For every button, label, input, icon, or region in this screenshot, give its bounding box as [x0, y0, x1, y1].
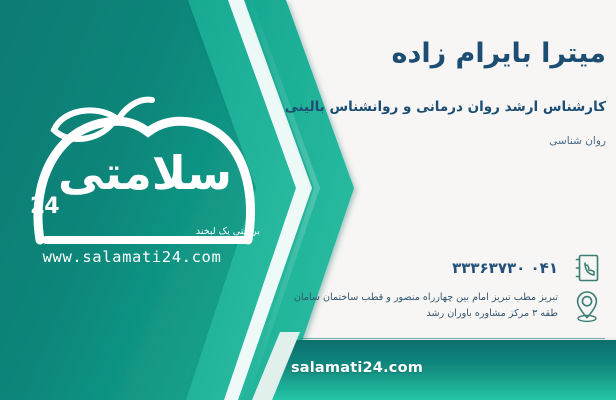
contact-row-address: تبریز مطب تبریز امام بین چهارراه منصور و… [244, 286, 604, 326]
phonebook-icon [570, 248, 604, 288]
logo-brand-number: 24 [30, 194, 59, 219]
section-divider [300, 338, 605, 339]
phone-number: ۳۳۳۶۳۷۳۰ ۰۴۱ [244, 259, 558, 277]
contact-phone-text: ۳۳۳۶۳۷۳۰ ۰۴۱ [244, 259, 558, 277]
footer-banner: salamati24.com [0, 360, 616, 376]
footer-website: salamati24.com [291, 360, 423, 376]
address-line-1: تبریز مطب تبریز امام بین چهارراه منصور و… [244, 290, 558, 306]
business-card: سلامتی 24 براحتی یک لبخند www.salamati24… [0, 0, 616, 400]
logo-website-url: www.salamati24.com [14, 248, 250, 266]
address-line-2: طقه ۳ مرکز مشاوره باوران رشد [244, 306, 558, 322]
doctor-field: روان شناسی [266, 135, 606, 147]
contact-address-text: تبریز مطب تبریز امام بین چهارراه منصور و… [244, 290, 558, 322]
location-pin-icon [570, 286, 604, 326]
logo-slogan: براحتی یک لبخند [120, 226, 260, 237]
logo-brand-word: سلامتی [40, 150, 250, 196]
doctor-specialty: کارشناس ارشد روان درمانی و روانشناس بالی… [266, 99, 606, 115]
contact-row-phone: ۳۳۳۶۳۷۳۰ ۰۴۱ [244, 248, 604, 288]
doctor-name: میترا بایرام زاده [266, 38, 606, 70]
